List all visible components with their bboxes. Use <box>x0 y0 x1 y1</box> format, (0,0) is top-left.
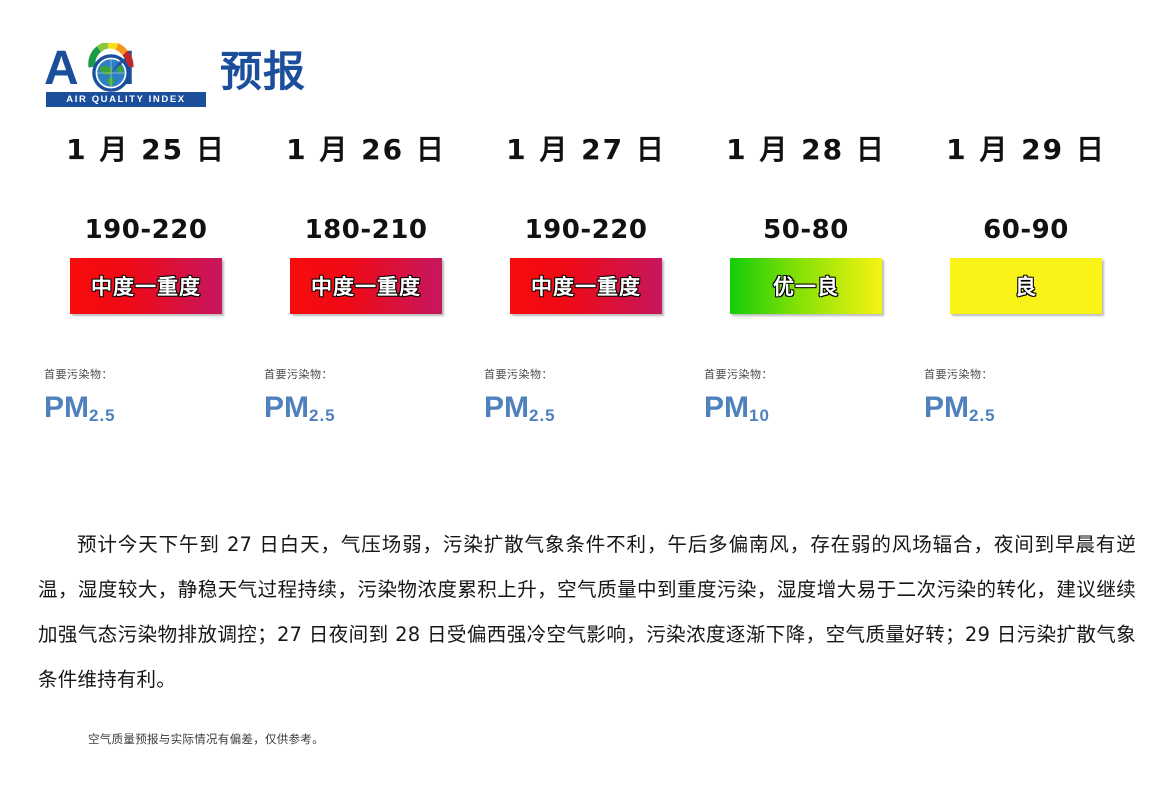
aqi-range: 180-210 <box>256 214 476 246</box>
disclaimer-footnote: 空气质量预报与实际情况有偏差，仅供参考。 <box>88 731 324 747</box>
primary-pollutant-label: 首要污染物： <box>924 366 1136 382</box>
aqi-letter-a: A <box>44 46 78 92</box>
forecast-columns: 1 月 25 日 190-220 中度一重度 首要污染物： PM2.5 1 月 … <box>36 128 1136 428</box>
primary-pollutant: 首要污染物： PM2.5 <box>36 366 256 428</box>
primary-pollutant-value: PM2.5 <box>484 392 696 428</box>
primary-pollutant-value: PM2.5 <box>264 392 476 428</box>
aqi-level-label: 中度一重度 <box>91 271 201 301</box>
aqi-level-badge-wrap: 良 <box>916 258 1136 314</box>
primary-pollutant-label: 首要污染物： <box>44 366 256 382</box>
primary-pollutant-value: PM10 <box>704 392 916 428</box>
primary-pollutant-value: PM2.5 <box>44 392 256 428</box>
forecast-date: 1 月 27 日 <box>476 128 696 172</box>
pollutant-name: PM <box>484 391 529 424</box>
forecast-date: 1 月 25 日 <box>36 128 256 172</box>
aqi-level-badge-wrap: 中度一重度 <box>256 258 476 314</box>
aqi-logo-chinese-title: 预报 <box>220 48 306 96</box>
forecast-day-column: 1 月 25 日 190-220 中度一重度 首要污染物： PM2.5 <box>36 128 256 428</box>
pollutant-size: 2.5 <box>89 406 116 425</box>
forecast-date: 1 月 26 日 <box>256 128 476 172</box>
pollutant-size: 2.5 <box>309 406 336 425</box>
aqi-level-badge: 中度一重度 <box>510 258 662 314</box>
forecast-date: 1 月 28 日 <box>696 128 916 172</box>
globe-icon <box>92 54 130 92</box>
forecast-date: 1 月 29 日 <box>916 128 1136 172</box>
primary-pollutant-label: 首要污染物： <box>484 366 696 382</box>
forecast-summary-paragraph: 预计今天下午到 27 日白天，气压场弱，污染扩散气象条件不利，午后多偏南风，存在… <box>38 522 1136 702</box>
aqi-range: 190-220 <box>36 214 256 246</box>
aqi-level-label: 良 <box>1015 271 1037 301</box>
primary-pollutant: 首要污染物： PM2.5 <box>256 366 476 428</box>
aqi-range: 190-220 <box>476 214 696 246</box>
aqi-level-badge-wrap: 优一良 <box>696 258 916 314</box>
primary-pollutant: 首要污染物： PM2.5 <box>916 366 1136 428</box>
aqi-logo: AI AIR QUALITY INDEX 预报 <box>44 46 306 108</box>
aqi-level-badge: 中度一重度 <box>70 258 222 314</box>
primary-pollutant: 首要污染物： PM10 <box>696 366 916 428</box>
pollutant-name: PM <box>44 391 89 424</box>
forecast-day-column: 1 月 29 日 60-90 良 首要污染物： PM2.5 <box>916 128 1136 428</box>
aqi-range: 50-80 <box>696 214 916 246</box>
aqi-level-label: 优一良 <box>773 271 839 301</box>
aqi-level-badge-wrap: 中度一重度 <box>476 258 696 314</box>
pollutant-size: 2.5 <box>529 406 556 425</box>
pollutant-size: 10 <box>749 406 770 425</box>
pollutant-size: 2.5 <box>969 406 996 425</box>
primary-pollutant-label: 首要污染物： <box>264 366 476 382</box>
forecast-day-column: 1 月 28 日 50-80 优一良 首要污染物： PM10 <box>696 128 916 428</box>
forecast-day-column: 1 月 26 日 180-210 中度一重度 首要污染物： PM2.5 <box>256 128 476 428</box>
aqi-level-label: 中度一重度 <box>531 271 641 301</box>
primary-pollutant-value: PM2.5 <box>924 392 1136 428</box>
aqi-logo-mark: AI AIR QUALITY INDEX <box>44 46 216 108</box>
forecast-day-column: 1 月 27 日 190-220 中度一重度 首要污染物： PM2.5 <box>476 128 696 428</box>
aqi-level-label: 中度一重度 <box>311 271 421 301</box>
aqi-level-badge: 良 <box>950 258 1102 314</box>
primary-pollutant-label: 首要污染物： <box>704 366 916 382</box>
aqi-level-badge: 中度一重度 <box>290 258 442 314</box>
aqi-logo-subtitle: AIR QUALITY INDEX <box>46 92 206 107</box>
aqi-range: 60-90 <box>916 214 1136 246</box>
aqi-level-badge: 优一良 <box>730 258 882 314</box>
pollutant-name: PM <box>704 391 749 424</box>
pollutant-name: PM <box>264 391 309 424</box>
pollutant-name: PM <box>924 391 969 424</box>
primary-pollutant: 首要污染物： PM2.5 <box>476 366 696 428</box>
aqi-level-badge-wrap: 中度一重度 <box>36 258 256 314</box>
